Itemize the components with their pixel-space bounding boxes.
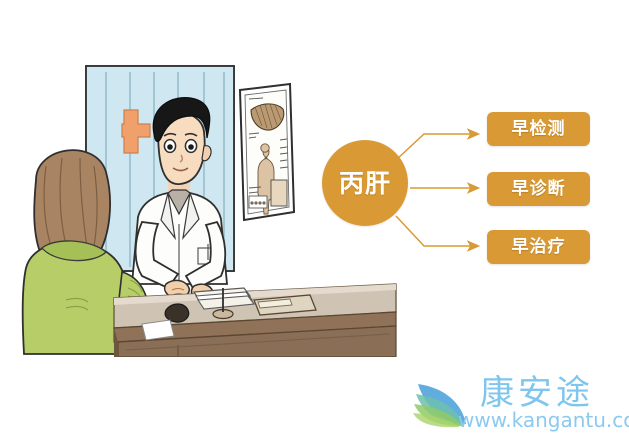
step-chip-label: 早诊断: [512, 181, 566, 198]
step-chip-early-diagnosis[interactable]: 早诊断: [487, 172, 590, 206]
topic-circle-hepatitis-c[interactable]: 丙肝: [322, 140, 408, 226]
hepatitis-c-flow-diagram: 丙肝 早检测 早诊断 早治疗: [318, 100, 608, 270]
watermark-brand-name: 康安途: [480, 376, 594, 410]
site-watermark: 康安途 www.kangantu.com: [412, 378, 620, 434]
step-chip-label: 早治疗: [512, 239, 566, 256]
consultation-desk: [114, 284, 396, 357]
watermark-url: www.kangantu.com: [458, 410, 629, 430]
step-chip-early-detection[interactable]: 早检测: [487, 112, 590, 146]
poster-canvas: 丙肝 早检测 早诊断 早治疗 康安途 www.kangantu.com: [0, 0, 629, 441]
liver-anatomy-poster: [240, 84, 294, 220]
step-chip-early-treatment[interactable]: 早治疗: [487, 230, 590, 264]
topic-circle-label: 丙肝: [339, 171, 391, 196]
step-chip-label: 早检测: [512, 121, 566, 138]
